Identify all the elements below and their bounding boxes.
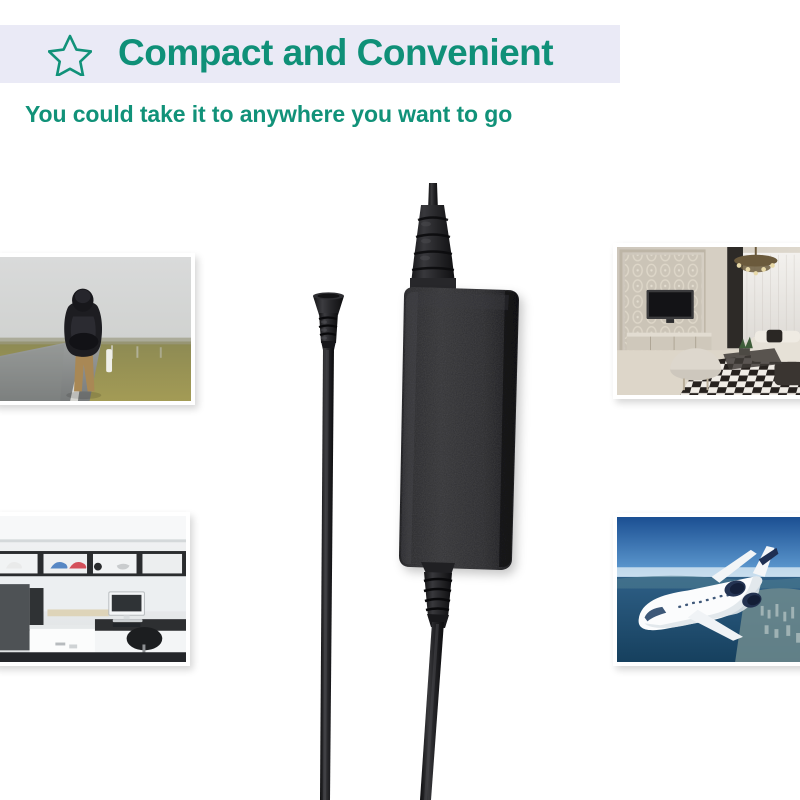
strain-relief-top	[410, 205, 456, 292]
page-subtitle: You could take it to anywhere you want t…	[25, 101, 512, 128]
header-banner: Compact and Convenient	[0, 25, 620, 83]
luxury-living-room-photo	[613, 243, 800, 399]
dc-output-cable	[420, 622, 444, 800]
traveler-walking-on-road-photo	[0, 253, 195, 405]
private-jet-in-flight-photo	[613, 513, 800, 666]
strain-relief-bottom	[421, 562, 455, 628]
dc-connector-cable	[320, 348, 334, 800]
ac-input-cable	[428, 183, 438, 212]
marketing-banner-page: Compact and Convenient You could take it…	[0, 0, 800, 800]
page-title: Compact and Convenient	[118, 32, 553, 74]
dc-barrel-connector	[313, 292, 344, 350]
star-outline-icon	[48, 34, 92, 76]
modern-office-workspace-photo	[0, 512, 190, 666]
adapter-brick	[399, 287, 519, 570]
